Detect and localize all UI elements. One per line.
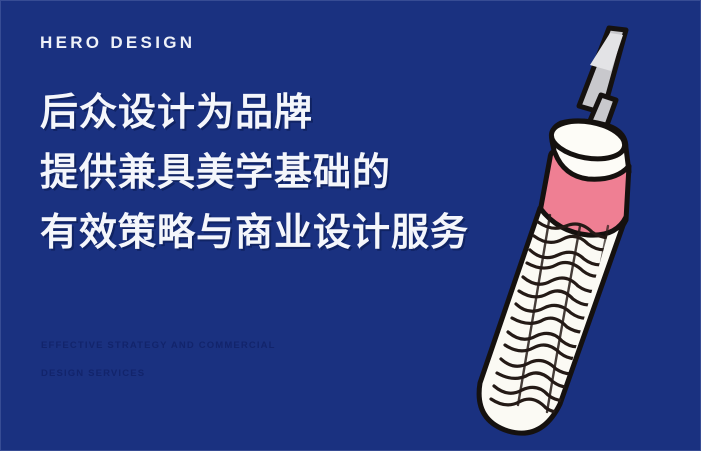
hero-banner: HERO DESIGN 后众设计为品牌 提供兼具美学基础的 有效策略与商业设计服… — [0, 0, 701, 451]
subtitle: EFFECTIVE STRATEGY AND COMMERCIAL DESIGN… — [41, 332, 276, 388]
subtitle-line-2: DESIGN SERVICES — [41, 360, 276, 388]
headline: 后众设计为品牌 提供兼具美学基础的 有效策略与商业设计服务 — [40, 83, 520, 263]
subtitle-line-1: EFFECTIVE STRATEGY AND COMMERCIAL — [41, 332, 276, 360]
headline-line-2: 提供兼具美学基础的 — [40, 143, 520, 203]
hero-copy: HERO DESIGN 后众设计为品牌 提供兼具美学基础的 有效策略与商业设计服… — [40, 34, 520, 263]
headline-line-1: 后众设计为品牌 — [40, 83, 520, 143]
brand-eyebrow: HERO DESIGN — [40, 34, 520, 51]
headline-line-3: 有效策略与商业设计服务 — [40, 203, 520, 263]
